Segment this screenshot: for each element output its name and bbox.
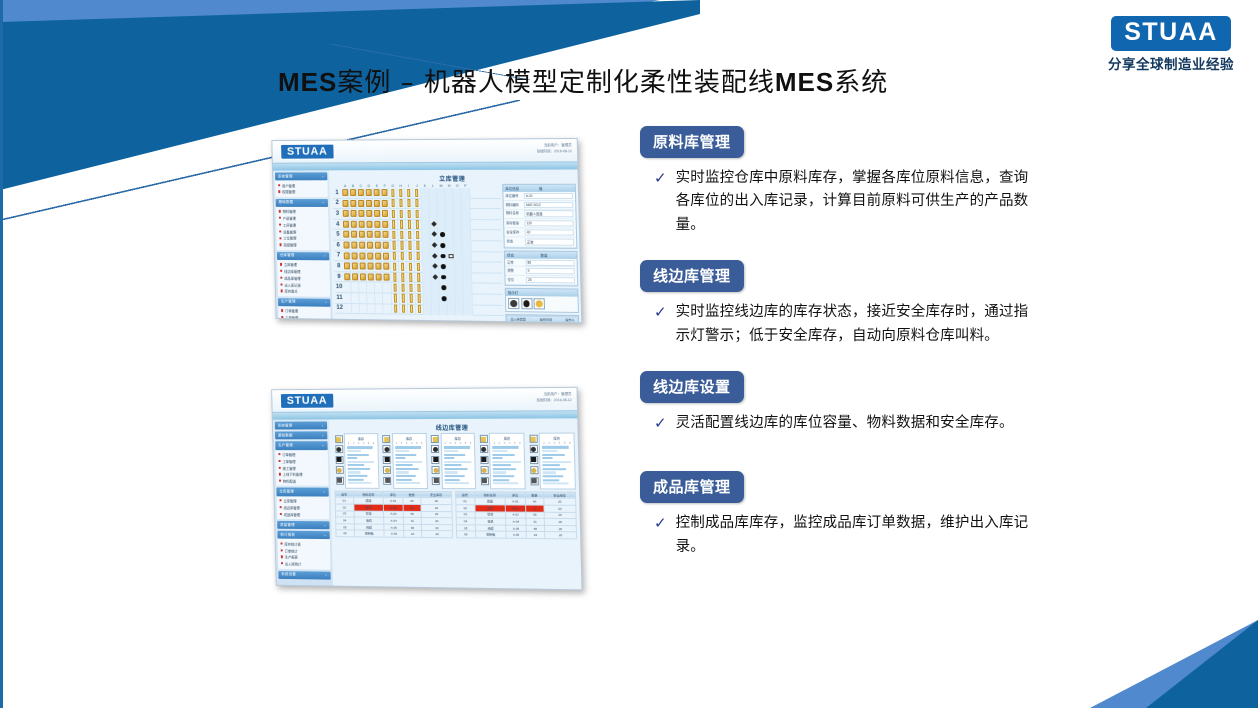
grid-cell[interactable]	[343, 272, 351, 283]
app2-station-panels[interactable]: 库存123456库存123456库存123456库存123456库存123456	[332, 433, 577, 490]
grid-cell[interactable]	[358, 219, 366, 230]
grid-cell[interactable]	[415, 283, 423, 294]
grid-cell[interactable]	[350, 230, 358, 241]
grid-cell[interactable]	[455, 272, 463, 283]
grid-cell[interactable]	[360, 303, 368, 314]
grid-cell[interactable]	[365, 188, 373, 199]
grid-cell[interactable]	[383, 261, 391, 272]
station-bar	[395, 461, 422, 463]
grid-cell[interactable]	[413, 188, 421, 199]
grid-cell[interactable]	[440, 304, 448, 315]
grid-cell[interactable]	[359, 272, 367, 283]
station-item-icon[interactable]	[431, 435, 439, 443]
grid-cell[interactable]	[406, 240, 414, 251]
station-item-icon[interactable]	[530, 477, 538, 485]
grid-cell[interactable]	[350, 209, 358, 220]
grid-cell[interactable]	[456, 283, 464, 294]
grid-cell[interactable]	[373, 198, 381, 209]
grid-row-label: 12	[335, 305, 344, 311]
grid-cell[interactable]	[343, 282, 351, 293]
grid-cell[interactable]	[357, 188, 365, 199]
grid-cell[interactable]	[437, 187, 445, 198]
grid-cell[interactable]	[349, 188, 357, 199]
grid-cell[interactable]	[360, 293, 368, 304]
grid-cell[interactable]	[455, 262, 463, 273]
grid-cell[interactable]	[398, 230, 406, 241]
grid-cell[interactable]	[382, 230, 390, 241]
grid-cell[interactable]	[374, 219, 382, 230]
slot-item-dot	[441, 264, 446, 269]
grid-cell[interactable]	[366, 240, 374, 251]
detail-row-value[interactable]: MAT-0012	[524, 202, 573, 208]
station-item-icon[interactable]	[431, 445, 439, 453]
grid-cell[interactable]	[413, 209, 421, 220]
grid-cell[interactable]	[464, 294, 472, 305]
grid-cell[interactable]	[421, 198, 429, 209]
grid-cell[interactable]	[381, 198, 389, 209]
sidebar-item[interactable]: 物料配送	[278, 478, 327, 485]
grid-cell[interactable]	[448, 304, 456, 315]
grid-cell[interactable]	[374, 251, 382, 262]
grid-cell[interactable]	[429, 209, 437, 220]
station-panel[interactable]: 库存123456	[333, 433, 379, 488]
grid-cell[interactable]	[406, 251, 414, 262]
grid-cell[interactable]	[431, 272, 439, 283]
grid-cell[interactable]	[359, 251, 367, 262]
grid-cell[interactable]	[415, 262, 423, 273]
app1-status-panel[interactable]: 状态数量正常86预警9空位25	[504, 250, 578, 286]
sidebar-group: 统计报表⌄库存统计表订单统计生产报表出入库统计	[277, 531, 330, 569]
slot-item-box	[342, 189, 348, 196]
sidebar-item[interactable]: 订单管理	[277, 451, 325, 458]
grid-cell[interactable]	[382, 219, 390, 230]
grid-cell[interactable]	[422, 230, 430, 241]
grid-cell[interactable]	[463, 241, 471, 252]
station-panel[interactable]: 库存123456	[381, 433, 428, 489]
grid-cell[interactable]	[407, 262, 415, 273]
grid-cell[interactable]	[438, 219, 446, 230]
grid-cell[interactable]	[447, 251, 455, 262]
station-item-icon[interactable]	[335, 446, 343, 454]
grid-cell[interactable]	[367, 282, 375, 293]
grid-cell[interactable]	[447, 262, 455, 273]
station-panel[interactable]: 库存123456	[528, 433, 576, 490]
grid-cell[interactable]	[453, 187, 461, 198]
grid-cell[interactable]	[359, 261, 367, 272]
grid-cell[interactable]	[358, 240, 366, 251]
lineside-cell: 06	[457, 531, 476, 538]
lineside-table: 编号物料名称库位数量安全库存01底座A-01402002关节A-02122003…	[455, 491, 577, 539]
station-item-icon[interactable]	[530, 466, 538, 474]
grid-cell[interactable]	[349, 198, 357, 209]
grid-cell[interactable]	[351, 282, 359, 293]
grid-cell[interactable]	[413, 198, 421, 209]
station-item-icon[interactable]	[431, 456, 439, 464]
sidebar-item[interactable]: 权限管理	[277, 189, 325, 196]
grid-cell[interactable]	[391, 261, 399, 272]
grid-cell[interactable]	[454, 209, 462, 220]
section-badge-lineside: 线边库管理	[640, 260, 744, 292]
grid-cell[interactable]	[399, 272, 407, 283]
grid-cell[interactable]	[405, 198, 413, 209]
grid-cell[interactable]	[446, 219, 454, 230]
grid-cell[interactable]	[454, 219, 462, 230]
grid-cell[interactable]	[423, 272, 431, 283]
grid-cell[interactable]	[398, 219, 406, 230]
sidebar-group-header[interactable]: 基础数据⌄	[276, 199, 328, 207]
sidebar-group-header[interactable]: 系统管理⌄	[275, 172, 327, 180]
sidebar-item[interactable]: 成品库管理	[279, 511, 328, 518]
sidebar-item[interactable]: 出入库统计	[280, 560, 329, 567]
grid-cell[interactable]	[350, 219, 358, 230]
grid-cell[interactable]	[373, 188, 381, 199]
grid-cell[interactable]	[463, 273, 471, 284]
grid-cell[interactable]	[439, 283, 447, 294]
grid-cell[interactable]	[414, 230, 422, 241]
grid-cell[interactable]	[440, 294, 448, 305]
slot-item-box	[367, 231, 373, 238]
sidebar-item[interactable]: 工单管理	[280, 314, 329, 321]
grid-row-label: 10	[335, 284, 344, 290]
grid-cell[interactable]	[344, 303, 352, 314]
grid-cell[interactable]	[456, 304, 464, 315]
station-item-icon[interactable]	[480, 456, 488, 464]
grid-cell[interactable]	[431, 283, 439, 294]
grid-cell[interactable]	[406, 219, 414, 230]
grid-cell[interactable]	[389, 198, 397, 209]
grid-cell[interactable]	[391, 293, 399, 304]
grid-cell[interactable]	[463, 262, 471, 273]
grid-cell[interactable]	[351, 251, 359, 262]
grid-cell[interactable]	[397, 209, 405, 220]
station-item-icon[interactable]	[336, 476, 344, 484]
grid-cell[interactable]	[454, 230, 462, 241]
grid-cell[interactable]	[445, 198, 453, 209]
grid-cell[interactable]	[429, 198, 437, 209]
station-item-icon[interactable]	[530, 456, 538, 464]
grid-cell[interactable]	[351, 261, 359, 272]
grid-cell[interactable]	[391, 283, 399, 294]
grid-cell[interactable]	[341, 188, 349, 198]
grid-cell[interactable]	[407, 283, 415, 294]
grid-cell[interactable]	[437, 198, 445, 209]
grid-cell[interactable]	[462, 209, 470, 220]
sidebar-group-header[interactable]: 基础数据⌄	[275, 432, 327, 440]
table-row[interactable]: 06控制板A-062420	[336, 530, 453, 538]
grid-cell[interactable]	[399, 293, 407, 304]
station-bar	[543, 468, 567, 470]
grid-cell[interactable]	[429, 187, 437, 198]
grid-cell[interactable]	[455, 241, 463, 252]
app1-indicator-panel[interactable]: 指示灯	[505, 288, 579, 313]
sidebar-item[interactable]: 库存盘点	[280, 288, 329, 295]
grid-cell[interactable]	[382, 251, 390, 262]
sidebar-item[interactable]: 报工管理	[280, 321, 329, 323]
station-item-icon[interactable]	[383, 445, 391, 453]
sidebar-group: 生产管理⌄订单管理工单管理报工管理	[278, 298, 331, 323]
grid-cell[interactable]	[439, 251, 447, 262]
grid-cell[interactable]	[358, 209, 366, 220]
grid-cell[interactable]	[365, 198, 373, 209]
grid-cell[interactable]	[382, 240, 390, 251]
grid-cell[interactable]	[384, 304, 392, 315]
grid-cell[interactable]	[439, 262, 447, 273]
grid-cell[interactable]	[422, 251, 430, 262]
station-item-icon[interactable]	[383, 476, 391, 484]
grid-cell[interactable]	[462, 198, 470, 209]
station-item-icon[interactable]	[335, 466, 343, 474]
grid-cell[interactable]	[357, 198, 365, 209]
grid-cell[interactable]	[375, 272, 383, 283]
grid-cell[interactable]	[430, 240, 438, 251]
status-row-value: 86	[525, 259, 574, 265]
grid-cell[interactable]	[432, 293, 440, 304]
grid-cell[interactable]	[415, 272, 423, 283]
grid-cell[interactable]	[344, 293, 352, 304]
lineside-table-right: 编号物料名称库位数量安全库存01底座A-01402002关节A-02122003…	[455, 491, 577, 539]
grid-cell[interactable]	[342, 240, 350, 251]
grid-cell[interactable]	[365, 209, 373, 220]
grid-cell[interactable]	[431, 262, 439, 273]
grid-cell[interactable]	[423, 293, 431, 304]
detail-row-value[interactable]: 机器人底座	[524, 211, 573, 218]
grid-cell[interactable]	[421, 188, 429, 199]
grid-cell[interactable]	[366, 230, 374, 241]
station-item-icon[interactable]	[383, 466, 391, 474]
grid-cell[interactable]	[432, 304, 440, 315]
station-item-icon[interactable]	[383, 456, 391, 464]
grid-cell[interactable]	[431, 251, 439, 262]
grid-cell[interactable]	[405, 209, 413, 220]
grid-cell[interactable]	[342, 230, 350, 241]
station-item-icon[interactable]	[432, 466, 440, 474]
grid-cell[interactable]	[343, 261, 351, 272]
grid-cell[interactable]	[461, 187, 469, 198]
grid-cell[interactable]	[422, 240, 430, 251]
station-item-icon[interactable]	[335, 435, 343, 443]
detail-row-value[interactable]: 120	[524, 220, 573, 226]
app1-storage-grid[interactable]: ABCDEFGHIJKLMNOP123456789101112	[332, 184, 505, 322]
slot-item-box	[367, 242, 373, 249]
grid-cell[interactable]	[383, 282, 391, 293]
slot-item-box	[360, 252, 366, 259]
station-bar	[395, 464, 412, 466]
grid-cell[interactable]	[439, 272, 447, 283]
indicator-lamp[interactable]	[533, 298, 545, 309]
sidebar-group-header[interactable]: 生产管理⌄	[275, 442, 327, 450]
grid-cell[interactable]	[407, 293, 415, 304]
grid-cell[interactable]	[438, 209, 446, 220]
slot-item-rod	[394, 294, 397, 302]
slot-item-dot	[441, 275, 446, 280]
grid-cell[interactable]	[463, 251, 471, 262]
grid-cell[interactable]	[430, 219, 438, 230]
grid-cell[interactable]	[423, 262, 431, 273]
app1-sidebar[interactable]: 系统管理⌄用户管理权限管理基础数据⌄物料管理产品管理工序管理设备管理工位管理班组…	[273, 170, 333, 318]
grid-cell[interactable]	[399, 283, 407, 294]
sidebar-group-items: 立库管理线边库管理成品库管理出入库记录库存盘点	[277, 260, 330, 297]
grid-cell[interactable]	[415, 293, 423, 304]
grid-cell[interactable]	[464, 304, 472, 315]
grid-cell[interactable]	[352, 303, 360, 314]
grid-cell[interactable]	[373, 209, 381, 220]
feature-section-lineside: 线边库管理 ✓ 实时监控线边库的库存状态，接近安全库存时，通过指示灯警示；低于安…	[640, 260, 1030, 348]
grid-cell[interactable]	[375, 293, 383, 304]
grid-cell[interactable]	[390, 219, 398, 230]
grid-cell[interactable]	[398, 240, 406, 251]
grid-cell[interactable]	[389, 188, 397, 199]
detail-row: 库存数量120	[504, 220, 576, 229]
detail-row-value[interactable]: A-01	[524, 193, 573, 199]
grid-cell[interactable]	[438, 241, 446, 252]
grid-cell[interactable]	[462, 219, 470, 230]
slot-item-box	[344, 273, 350, 280]
grid-cell[interactable]	[446, 209, 454, 220]
grid-cell[interactable]	[359, 282, 367, 293]
slot-item-diamond	[431, 221, 437, 227]
sidebar-group: 基础数据⌄物料管理产品管理工序管理设备管理工位管理班组管理	[276, 199, 329, 250]
app2-sidebar[interactable]: 系统管理⌄基础数据⌄生产管理⌄订单管理工单管理报工管理上线下料管理物料配送仓库管…	[273, 419, 333, 585]
grid-cell[interactable]	[389, 209, 397, 220]
table-row[interactable]: 06控制板A-062420	[457, 531, 577, 539]
slot-item-rod	[408, 220, 411, 228]
grid-cell[interactable]	[398, 251, 406, 262]
station-item-icon[interactable]	[432, 477, 440, 485]
grid-cell[interactable]	[367, 261, 375, 272]
grid-row-label: 11	[335, 295, 344, 301]
grid-cell[interactable]	[358, 230, 366, 241]
sidebar-group-header[interactable]: 系统管理⌄	[275, 421, 327, 429]
detail-row-value[interactable]: 40	[525, 229, 574, 235]
slot-item-box	[360, 263, 366, 270]
grid-cell[interactable]	[455, 251, 463, 262]
grid-cell[interactable]	[390, 251, 398, 262]
station-item-icon[interactable]	[480, 435, 488, 443]
grid-cell[interactable]	[374, 240, 382, 251]
grid-cell[interactable]	[448, 294, 456, 305]
grid-cell[interactable]	[342, 219, 350, 230]
app1-record-table[interactable]: 出入库类型操作时间操作人入库2016-08-12 09:21张工出库2016-0…	[505, 314, 580, 322]
grid-cell[interactable]	[406, 230, 414, 241]
grid-cell[interactable]	[447, 283, 455, 294]
app2-bottom-tables[interactable]: 编号物料名称库位数量安全库存01底座A-01402002关节A-02122003…	[333, 488, 578, 539]
grid-cell[interactable]	[405, 188, 413, 199]
grid-cell[interactable]	[422, 219, 430, 230]
grid-cell[interactable]	[383, 272, 391, 283]
grid-cell[interactable]	[423, 283, 431, 294]
station-card-title: 库存	[347, 436, 375, 441]
grid-cell[interactable]	[414, 219, 422, 230]
slot-item-box	[351, 221, 357, 228]
grid-cell[interactable]	[446, 241, 454, 252]
sidebar-group: 系统管理⌄用户管理权限管理	[275, 172, 328, 196]
grid-cell[interactable]	[445, 187, 453, 198]
grid-cell[interactable]	[407, 272, 415, 283]
sidebar-group-header[interactable]: 质量管理⌄	[277, 521, 329, 529]
indicator-lamp[interactable]	[521, 298, 532, 309]
grid-cell[interactable]	[438, 230, 446, 241]
grid-cell[interactable]	[447, 272, 455, 283]
sidebar-group-header[interactable]: 仓库管理⌄	[276, 488, 328, 496]
grid-cell[interactable]	[381, 209, 389, 220]
grid-cell[interactable]	[414, 240, 422, 251]
grid-cell[interactable]	[352, 293, 360, 304]
station-panel[interactable]: 库存123456	[429, 433, 476, 489]
grid-cell[interactable]	[366, 219, 374, 230]
grid-cell[interactable]	[367, 293, 375, 304]
indicator-lamp[interactable]	[508, 298, 519, 309]
grid-cell[interactable]	[430, 230, 438, 241]
grid-cell[interactable]	[375, 261, 383, 272]
station-item-icon[interactable]	[529, 445, 537, 453]
grid-cell[interactable]	[376, 303, 384, 314]
grid-cell[interactable]	[421, 209, 429, 220]
slot-item-box	[352, 263, 358, 270]
grid-cell[interactable]	[453, 198, 461, 209]
grid-cell[interactable]	[416, 304, 424, 315]
slot-item-box	[359, 210, 365, 217]
grid-cell[interactable]	[408, 304, 416, 315]
station-item-icon[interactable]	[480, 445, 488, 453]
station-item-icon[interactable]	[480, 466, 488, 474]
station-item-icon[interactable]	[529, 435, 537, 443]
grid-cell[interactable]	[368, 303, 376, 314]
grid-cell[interactable]	[397, 188, 405, 199]
grid-cell[interactable]	[375, 282, 383, 293]
station-bar	[444, 471, 457, 473]
grid-cell[interactable]	[342, 209, 350, 220]
grid-cell[interactable]	[414, 251, 422, 262]
station-panel[interactable]: 库存123456	[478, 433, 526, 489]
grid-cell[interactable]	[397, 198, 405, 209]
app1-detail-panel[interactable]: 库位信息值库位编号A-01物料编码MAT-0012物料名称机器人底座库存数量12…	[502, 184, 577, 249]
slot-item-box	[350, 189, 356, 196]
grid-cell[interactable]	[343, 251, 351, 262]
slot-item-diamond	[432, 263, 438, 269]
station-item-icon[interactable]	[335, 456, 343, 464]
grid-cell[interactable]	[341, 198, 349, 208]
grid-cell[interactable]	[400, 304, 408, 315]
page-title-seg4: 系统	[834, 68, 888, 98]
station-item-icon[interactable]	[382, 435, 390, 443]
station-item-icon[interactable]	[481, 477, 489, 485]
sidebar-item[interactable]: 班组管理	[279, 242, 328, 249]
grid-cell[interactable]	[366, 251, 374, 262]
grid-cell[interactable]	[390, 230, 398, 241]
sidebar-group-header[interactable]: 系统设置⌄	[278, 571, 330, 580]
grid-cell[interactable]	[392, 304, 400, 315]
grid-cell[interactable]	[381, 188, 389, 199]
grid-cell[interactable]	[351, 272, 359, 283]
grid-cell[interactable]	[464, 283, 472, 294]
grid-cell[interactable]	[424, 304, 432, 315]
detail-row-label: 库位编号	[505, 193, 523, 199]
grid-cell[interactable]	[374, 230, 382, 241]
app1-main: 系统管理⌄用户管理权限管理基础数据⌄物料管理产品管理工序管理设备管理工位管理班组…	[273, 169, 581, 322]
app2-main: 系统管理⌄基础数据⌄生产管理⌄订单管理工单管理报工管理上线下料管理物料配送仓库管…	[273, 418, 582, 589]
slot-item-rod	[418, 305, 421, 313]
grid-cell[interactable]	[456, 294, 464, 305]
grid-cell[interactable]	[367, 272, 375, 283]
grid-cell[interactable]	[390, 240, 398, 251]
detail-row-value[interactable]: 正常	[525, 238, 574, 245]
grid-cell[interactable]	[399, 261, 407, 272]
grid-cell[interactable]	[383, 293, 391, 304]
grid-cell[interactable]	[391, 272, 399, 283]
grid-cell[interactable]	[462, 230, 470, 241]
grid-cell[interactable]	[446, 230, 454, 241]
grid-cell[interactable]	[350, 240, 358, 251]
